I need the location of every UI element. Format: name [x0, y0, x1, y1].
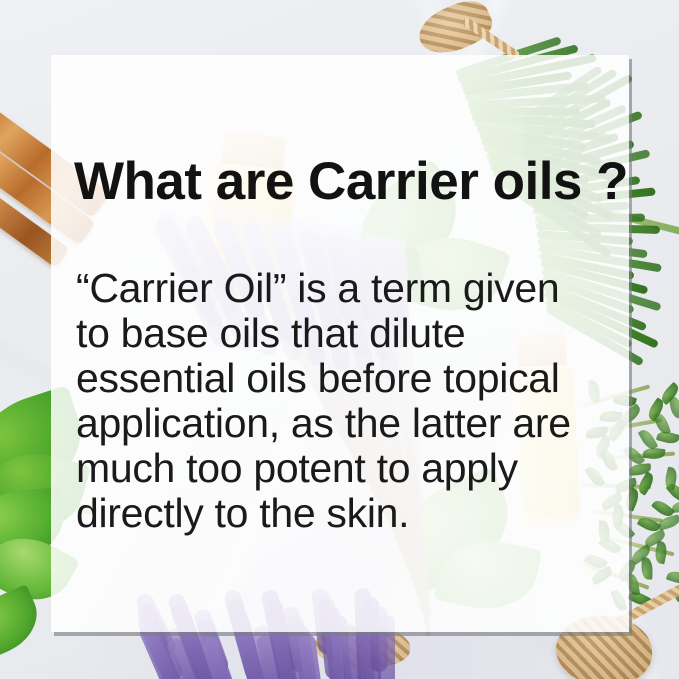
carrier-oils-infographic: What are Carrier oils ? “Carrier Oil” is… — [0, 0, 679, 679]
body-line: essential oils before topical — [76, 356, 616, 401]
page-title: What are Carrier oils ? — [74, 155, 628, 208]
body-line: “Carrier Oil” is a term given — [76, 266, 616, 311]
body-paragraph: “Carrier Oil” is a term givento base oil… — [76, 266, 616, 536]
body-line: much too potent to apply — [76, 446, 616, 491]
text-layer: What are Carrier oils ? “Carrier Oil” is… — [0, 0, 679, 679]
body-line: to base oils that dilute — [76, 311, 616, 356]
body-line: directly to the skin. — [76, 491, 616, 536]
body-line: application, as the latter are — [76, 401, 616, 446]
